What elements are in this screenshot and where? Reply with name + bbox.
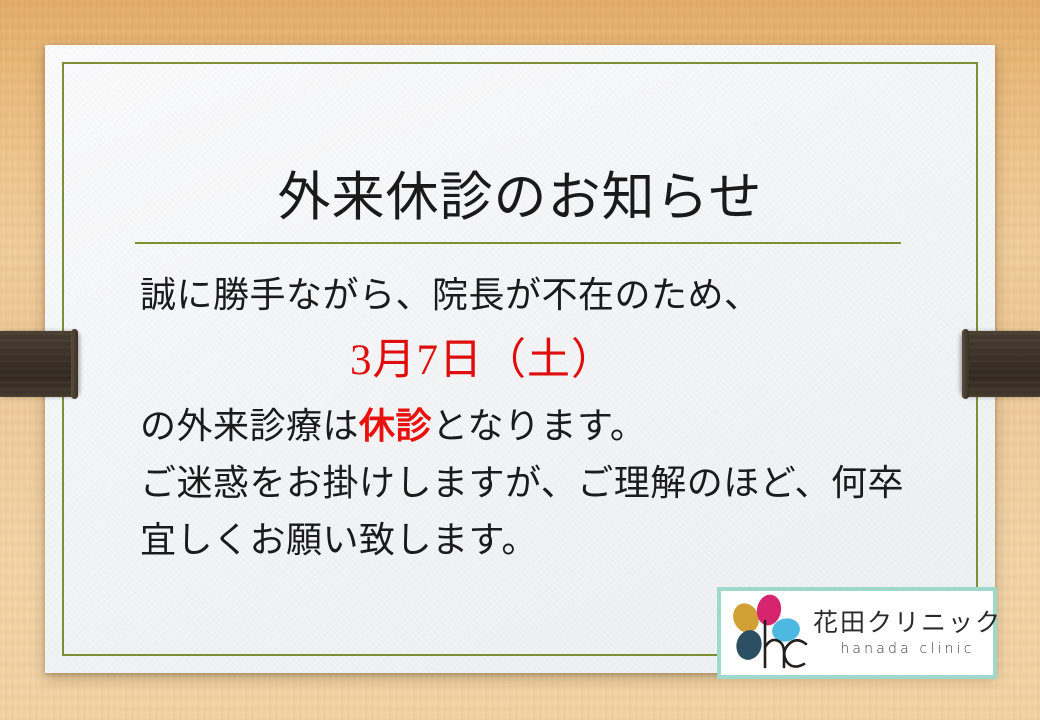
closure-date: 3月7日（土） xyxy=(140,324,955,398)
mount-bar-right-cap xyxy=(962,329,969,399)
mount-bar-right xyxy=(962,331,1040,397)
monogram-c xyxy=(784,640,806,666)
body-line-closure: の外来診療は休診となります。 xyxy=(140,398,955,455)
page-title: 外来休診のお知らせ xyxy=(45,171,995,224)
clinic-logo: 花田クリニック hanada clinic xyxy=(717,587,997,679)
clinic-name-jp: 花田クリニック xyxy=(813,609,1002,637)
petal-navy-icon xyxy=(733,627,765,662)
notice-body: 誠に勝手ながら、院長が不在のため、 3月7日（土） の外来診療は休診となります。… xyxy=(140,267,955,569)
closure-suffix: となります。 xyxy=(432,406,646,446)
clinic-name-en: hanada clinic xyxy=(813,641,1002,657)
wooden-background: 外来休診のお知らせ 誠に勝手ながら、院長が不在のため、 3月7日（土） の外来診… xyxy=(0,0,1040,720)
body-line-reason: 誠に勝手ながら、院長が不在のため、 xyxy=(140,267,955,324)
flower-monogram-icon xyxy=(727,593,811,673)
body-line-apology-2: 宜しくお願い致します。 xyxy=(140,512,955,569)
monogram-h-shoulder xyxy=(765,640,784,667)
closure-prefix: の外来診療は xyxy=(140,406,359,446)
title-divider xyxy=(135,242,901,244)
mount-bar-left xyxy=(0,331,78,397)
notice-card: 外来休診のお知らせ 誠に勝手ながら、院長が不在のため、 3月7日（土） の外来診… xyxy=(45,45,995,673)
clinic-logo-text: 花田クリニック hanada clinic xyxy=(811,609,1008,658)
closure-emphasis: 休診 xyxy=(359,406,432,446)
mount-bar-left-cap xyxy=(71,329,78,399)
body-line-apology-1: ご迷惑をお掛けしますが、ご理解のほど、何卒 xyxy=(140,455,955,512)
